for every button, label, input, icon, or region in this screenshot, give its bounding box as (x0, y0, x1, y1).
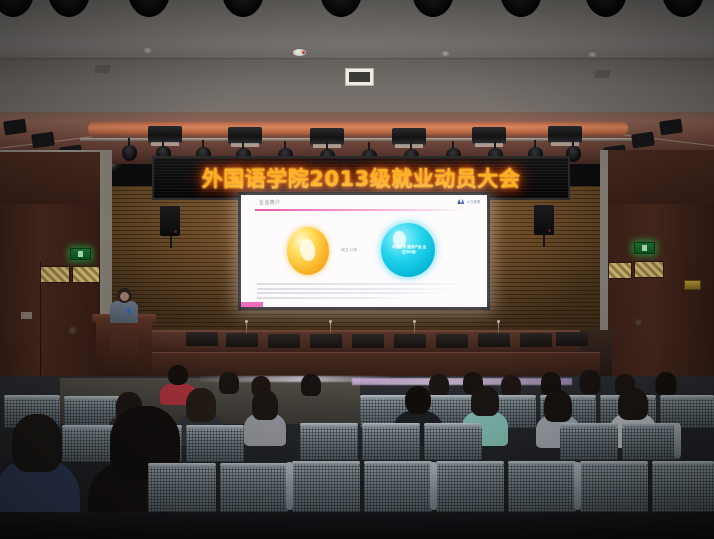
auditorium-seat[interactable] (300, 426, 358, 460)
auditorium-photograph: 外国语学院2013级就业动员大会 企业简介 人力资源 成立12年 中国上市 服务… (0, 0, 714, 539)
left-door-handle[interactable] (68, 326, 77, 335)
slide-logo-text: 人力资源 (466, 199, 480, 204)
slide-title-rule (255, 209, 467, 211)
auditorium-seat[interactable] (424, 426, 482, 460)
auditorium-seat[interactable] (436, 464, 504, 512)
auditorium-seat[interactable] (652, 464, 714, 512)
smoke-detector-icon (293, 49, 306, 56)
projection-screen-frame: 企业简介 人力资源 成立12年 中国上市 服务产品 全区500强 (238, 192, 490, 310)
speaker-person (109, 288, 139, 322)
exit-sign-right (634, 242, 655, 254)
stage-wash-light (228, 127, 262, 144)
recessed-light (441, 51, 450, 56)
seat-armrest (574, 462, 581, 510)
stage-chair (436, 334, 468, 348)
presentation-slide: 企业简介 人力资源 成立12年 中国上市 服务产品 全区500强 (241, 195, 487, 307)
logo-mark-icon (457, 199, 464, 204)
right-speaker-mount (543, 235, 545, 247)
seat-armrest (430, 462, 437, 510)
auditorium-seat[interactable] (364, 464, 432, 512)
wall-notice-plate (684, 280, 701, 290)
stage-wash-light (472, 127, 506, 144)
person-head (168, 365, 188, 385)
stage-chair (226, 333, 258, 347)
audience-person (244, 390, 286, 444)
slide-accent-block (241, 302, 263, 307)
person-hair (544, 390, 572, 422)
person-hair (618, 388, 648, 420)
ceiling-access-panel (345, 68, 374, 86)
slide-body-text (257, 283, 469, 301)
person-hair (12, 414, 62, 472)
auditorium-seat[interactable] (622, 426, 680, 460)
right-wall-wood-panel (608, 150, 714, 204)
auditorium-seat[interactable] (148, 466, 216, 512)
person-hair (301, 374, 321, 396)
person-head (405, 386, 431, 414)
cyan-shape-caption: 中国上市 服务产品 全区500强 (391, 245, 427, 254)
auditorium-seat[interactable] (292, 464, 360, 512)
stage-chair (268, 334, 300, 348)
stage-chair (310, 334, 342, 348)
ceiling-vent (594, 70, 611, 78)
right-door-glass-panel (634, 261, 664, 278)
left-door-glass-panel (40, 266, 70, 283)
table-microphone (498, 322, 499, 334)
person-hair (580, 370, 601, 394)
foreground-shadow-band (0, 512, 714, 539)
stage-chair (352, 334, 384, 348)
auditorium-seat[interactable] (580, 464, 648, 512)
person-hair (252, 390, 278, 420)
slide-cyan-shape: 中国上市 服务产品 全区500强 (381, 223, 435, 277)
auditorium-seat[interactable] (362, 426, 420, 460)
audience-person (578, 370, 602, 396)
person-hair (471, 386, 499, 416)
exit-sign-left (70, 248, 91, 260)
left-speaker-mount (170, 236, 172, 248)
stage-chair (556, 332, 588, 346)
left-wall-wood-panel (0, 152, 100, 204)
auditorium-seat[interactable] (220, 466, 288, 512)
wall-speaker-right (534, 205, 554, 235)
left-door-glass-panel (72, 266, 100, 283)
slide-gold-shape (287, 227, 329, 275)
auditorium-seat[interactable] (560, 426, 618, 460)
right-exit-door[interactable] (608, 204, 714, 382)
slide-logo: 人力资源 (457, 199, 480, 204)
speaker-torso (110, 301, 138, 323)
stage-chair (394, 334, 426, 348)
right-door-handle[interactable] (634, 318, 643, 327)
recessed-light (143, 48, 152, 53)
wall-speaker-left (160, 206, 180, 236)
recessed-light (588, 52, 597, 57)
stage-chair (186, 332, 218, 346)
speaker-face (120, 292, 129, 301)
right-door-glass-panel (608, 262, 632, 279)
parcan-spotlight (122, 145, 137, 161)
seat-armrest (286, 462, 293, 510)
ceiling-vent (94, 65, 111, 73)
stage-chair (478, 333, 510, 347)
slide-title: 企业简介 (259, 199, 281, 206)
stage-chair (520, 333, 552, 347)
led-banner-text: 外国语学院2013级就业动员大会 (202, 163, 520, 193)
slide-mid-label: 成立12年 (341, 247, 357, 253)
table-microphone (414, 322, 415, 334)
stage-wash-light (548, 126, 582, 143)
left-exit-door[interactable] (0, 204, 100, 380)
speaker-badge (127, 308, 130, 314)
audience-person (300, 374, 322, 398)
stage-wash-light (392, 128, 426, 145)
person-hair (656, 372, 677, 396)
table-microphone (246, 322, 247, 334)
stage-wash-light (148, 126, 182, 143)
left-wall-switch[interactable] (21, 312, 32, 319)
seat-armrest (674, 424, 681, 458)
table-microphone (330, 322, 331, 334)
auditorium-seat[interactable] (508, 464, 576, 512)
